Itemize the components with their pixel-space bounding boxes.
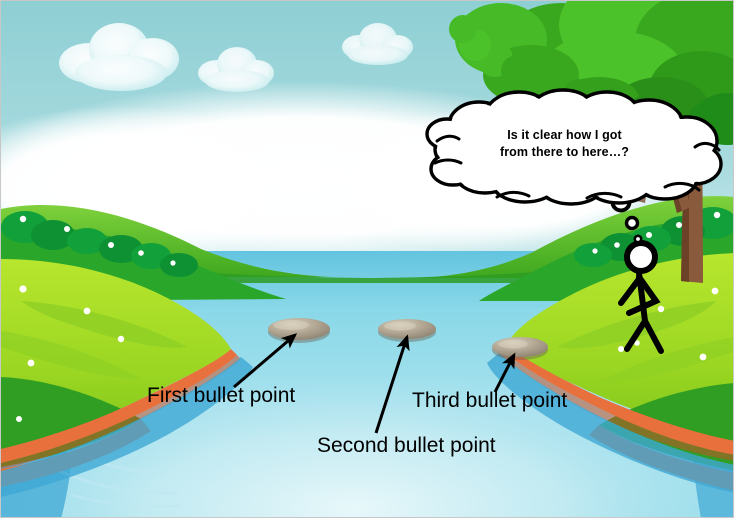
label-third-bullet-point: Third bullet point bbox=[412, 389, 567, 413]
label-first-bullet-point: First bullet point bbox=[147, 384, 295, 408]
arrow-to-stone-2 bbox=[376, 337, 407, 433]
thought-bubble-line-2: from there to here…? bbox=[467, 144, 662, 161]
arrow-to-stone-1 bbox=[234, 335, 295, 387]
arrow-to-stone-3 bbox=[495, 355, 514, 392]
thought-bubble-text: Is it clear how I got from there to here… bbox=[467, 127, 662, 161]
illustration-canvas: Is it clear how I got from there to here… bbox=[0, 0, 734, 518]
label-second-bullet-point: Second bullet point bbox=[317, 434, 496, 458]
thought-bubble-line-1: Is it clear how I got bbox=[467, 127, 662, 144]
